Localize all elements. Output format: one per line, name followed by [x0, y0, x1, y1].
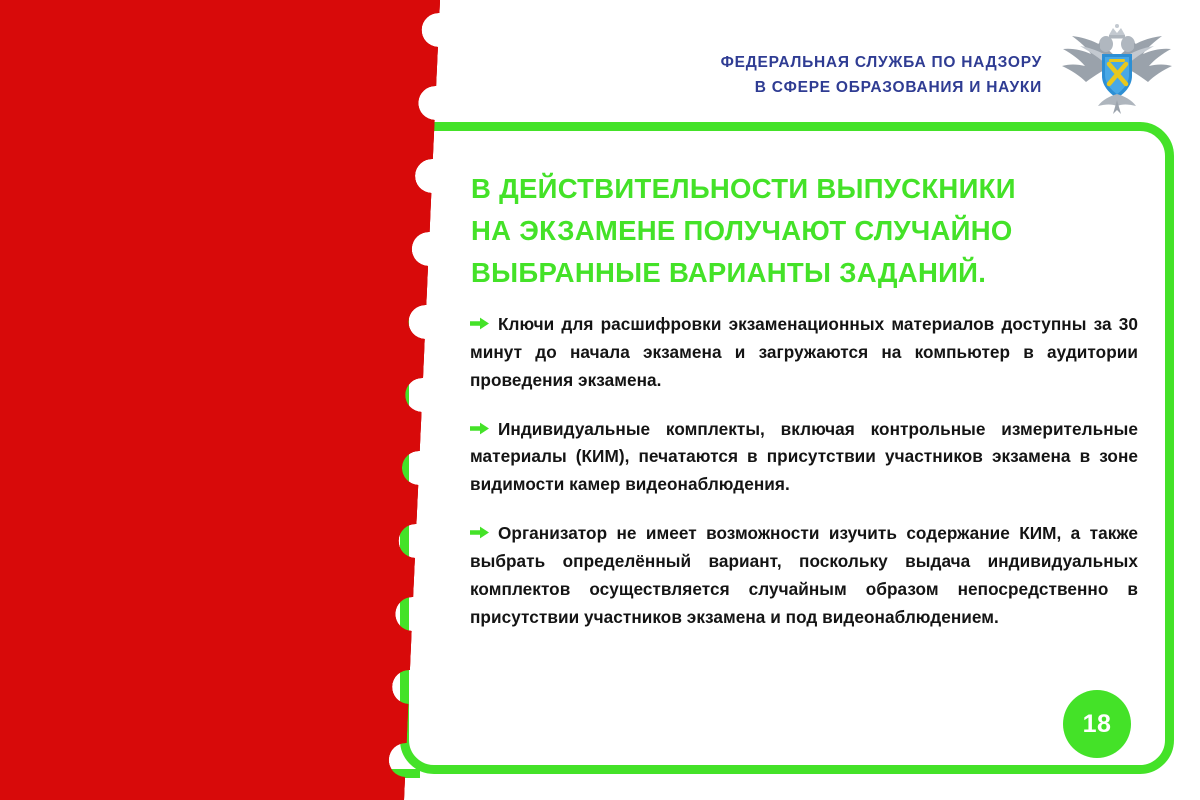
fact-bullet-text: Ключи для расшифровки экзаменационных ма… — [470, 314, 1138, 390]
fact-bullet-list: Ключи для расшифровки экзаменационных ма… — [470, 311, 1138, 632]
shrugging-man-figure — [84, 511, 346, 773]
fact-headline: В ДЕЙСТВИТЕЛЬНОСТИ ВЫПУСКНИКИ НА ЭКЗАМЕН… — [471, 168, 1091, 293]
fact-bullet-text: Индивидуальные комплекты, включая контро… — [470, 419, 1138, 495]
myth-quote-line: В АУДИТОРИИ — [66, 201, 396, 239]
myth-quote-line: ОПРЕДЕЛЁННЫЙ — [66, 316, 396, 354]
myth-quote-line: ВАРИАНТ — [66, 354, 396, 392]
green-arrow-icon — [470, 422, 489, 435]
rosobrnadzor-eagle-emblem-icon — [1056, 24, 1178, 116]
org-name-line-2: В СФЕРЕ ОБРАЗОВАНИЯ И НАУКИ — [721, 75, 1042, 100]
green-arrow-icon — [470, 526, 489, 539]
fact-bullet-item: Индивидуальные комплекты, включая контро… — [470, 416, 1138, 500]
org-name-line-1: ФЕДЕРАЛЬНАЯ СЛУЖБА ПО НАДЗОРУ — [721, 50, 1042, 75]
fact-headline-line: ВЫБРАННЫЕ ВАРИАНТЫ ЗАДАНИЙ. — [471, 252, 1091, 294]
myth-title: МИФ О ЕГЭ — [64, 38, 424, 102]
fact-bullet-item: Организатор не имеет возможности изучить… — [470, 520, 1138, 631]
green-arrow-icon — [470, 317, 489, 330]
myth-quote-line: «СВОЕМУ» — [66, 393, 396, 431]
green-frame-top-extension — [0, 122, 420, 131]
fact-headline-line: В ДЕЙСТВИТЕЛЬНОСТИ ВЫПУСКНИКИ — [471, 168, 1091, 210]
fact-headline-line: НА ЭКЗАМЕНЕ ПОЛУЧАЮТ СЛУЧАЙНО — [471, 210, 1091, 252]
shrugging-man-illustration — [84, 511, 346, 773]
myth-quote-text: «ОРГАНИЗАТОР В АУДИТОРИИ МОЖЕТ ВЫДАТЬ ЗА… — [66, 163, 396, 469]
myth-quote-line: ЗАРАНЕЕ — [66, 278, 396, 316]
fact-bullet-item: Ключи для расшифровки экзаменационных ма… — [470, 311, 1138, 395]
illustration-circle-background — [84, 511, 346, 773]
myth-quote-line: «ОРГАНИЗАТОР — [66, 163, 396, 201]
myth-quote-line: УЧАСТНИКУ» — [66, 431, 396, 469]
myth-quote-line: МОЖЕТ ВЫДАТЬ — [66, 240, 396, 278]
organization-header: ФЕДЕРАЛЬНАЯ СЛУЖБА ПО НАДЗОРУ В СФЕРЕ ОБ… — [721, 50, 1042, 100]
page-number-badge: 18 — [1063, 690, 1131, 758]
fact-bullet-text: Организатор не имеет возможности изучить… — [470, 523, 1138, 627]
green-frame-bottom-extension — [0, 769, 420, 778]
infographic-poster: МИФ О ЕГЭ «ОРГАНИЗАТОР В АУДИТОРИИ МОЖЕТ… — [0, 0, 1200, 800]
